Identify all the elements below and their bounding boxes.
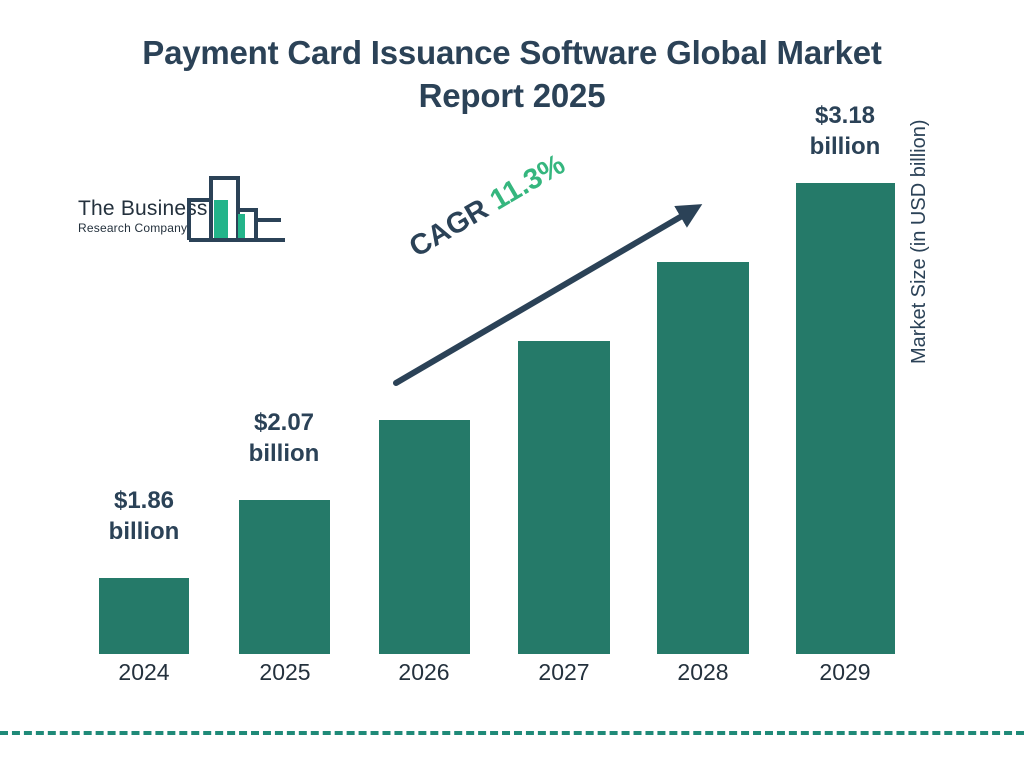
x-tick-2024: 2024: [84, 659, 204, 686]
bar-2025: [239, 500, 330, 654]
bar-value-2029-unit: billion: [775, 131, 915, 162]
x-tick-2026: 2026: [364, 659, 484, 686]
cagr-label: CAGR 11.3%: [404, 148, 571, 264]
x-tick-2029: 2029: [785, 659, 905, 686]
bar-value-2029-amount: $3.18: [775, 100, 915, 131]
bar-value-2024-unit: billion: [74, 516, 214, 547]
bar-value-2025-unit: billion: [214, 438, 354, 469]
bar-2029: [796, 183, 895, 654]
bar-value-2024-amount: $1.86: [74, 485, 214, 516]
cagr-word: CAGR: [404, 193, 494, 264]
bar-value-2024: $1.86 billion: [74, 485, 214, 547]
cagr-value: 11.3%: [485, 148, 571, 216]
x-tick-2025: 2025: [225, 659, 345, 686]
bar-2024: [99, 578, 189, 654]
bar-2027: [518, 341, 610, 654]
bar-value-2029: $3.18 billion: [775, 100, 915, 162]
bar-chart: $1.86 billion $2.07 billion $3.18 billio…: [0, 0, 1024, 768]
x-tick-2028: 2028: [643, 659, 763, 686]
y-axis-title: Market Size (in USD billion): [908, 44, 931, 364]
bar-2026: [379, 420, 470, 654]
bar-value-2025: $2.07 billion: [214, 407, 354, 469]
x-tick-2027: 2027: [504, 659, 624, 686]
bar-2028: [657, 262, 749, 654]
bar-value-2025-amount: $2.07: [214, 407, 354, 438]
bottom-divider: [0, 731, 1024, 735]
